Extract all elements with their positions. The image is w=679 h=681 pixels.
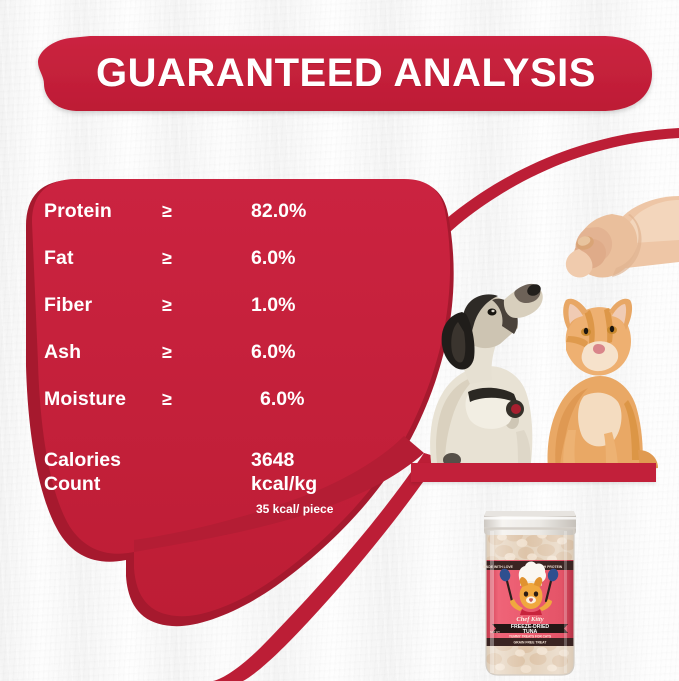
nutrient-operator: ≥ xyxy=(162,389,172,410)
calories-value: 3648 kcal/kg xyxy=(251,448,317,496)
nutrient-label: Moisture xyxy=(44,388,126,411)
jar-banner-left-text: MADE WITH LOVE xyxy=(483,565,513,569)
red-shelf-bar xyxy=(411,463,656,482)
jar-label: MADE WITH LOVE HIGH PROTEIN xyxy=(483,560,574,646)
nutrient-operator: ≥ xyxy=(162,248,172,269)
nutrient-operator: ≥ xyxy=(162,295,172,316)
jar-right-highlight xyxy=(564,531,567,673)
table-row: Fiber ≥ 1.0% xyxy=(44,294,374,341)
jar-lid xyxy=(484,511,576,535)
table-row: Protein ≥ 82.0% xyxy=(44,200,374,247)
nutrient-value: 1.0% xyxy=(251,294,295,317)
table-row: Ash ≥ 6.0% xyxy=(44,341,374,388)
nutrient-operator: ≥ xyxy=(162,342,172,363)
jar-bottom-banner-text: GRAIN FREE TREAT xyxy=(514,641,548,645)
nutrient-value: 82.0% xyxy=(251,200,306,223)
nutrient-operator: ≥ xyxy=(162,201,172,222)
jar-tagline: YUMMY TREATS FOR CATS xyxy=(509,635,551,639)
calories-value-line2: kcal/kg xyxy=(251,472,317,496)
calories-label: Calories Count xyxy=(44,448,121,496)
calories-value-line1: 3648 xyxy=(251,448,317,472)
jar-left-highlight xyxy=(490,531,494,673)
hand-holding-treat-photo xyxy=(566,196,679,278)
table-row: Fat ≥ 6.0% xyxy=(44,247,374,294)
product-infographic: GUARANTEED ANALYSIS Protein ≥ 82.0% Fat … xyxy=(0,0,679,681)
page-title: GUARANTEED ANALYSIS xyxy=(32,34,652,112)
calories-per-piece-note: 35 kcal/ piece xyxy=(256,502,333,516)
nutrient-label: Ash xyxy=(44,341,81,364)
guaranteed-analysis-table: Protein ≥ 82.0% Fat ≥ 6.0% Fiber ≥ 1.0% … xyxy=(44,200,374,435)
nutrient-label: Protein xyxy=(44,200,112,223)
product-jar: MADE WITH LOVE HIGH PROTEIN xyxy=(476,505,584,681)
calories-label-line1: Calories xyxy=(44,448,121,472)
nutrient-value: 6.0% xyxy=(260,388,304,411)
nutrient-value: 6.0% xyxy=(251,247,295,270)
headline-banner: GUARANTEED ANALYSIS xyxy=(32,34,652,112)
calories-label-line2: Count xyxy=(44,472,121,496)
nutrient-label: Fat xyxy=(44,247,74,270)
nutrient-label: Fiber xyxy=(44,294,92,317)
table-row: Moisture ≥ 6.0% xyxy=(44,388,374,435)
cat-photo xyxy=(548,299,659,473)
nutrient-value: 6.0% xyxy=(251,341,295,364)
jar-brand-script: Chef Kitty xyxy=(516,616,543,623)
